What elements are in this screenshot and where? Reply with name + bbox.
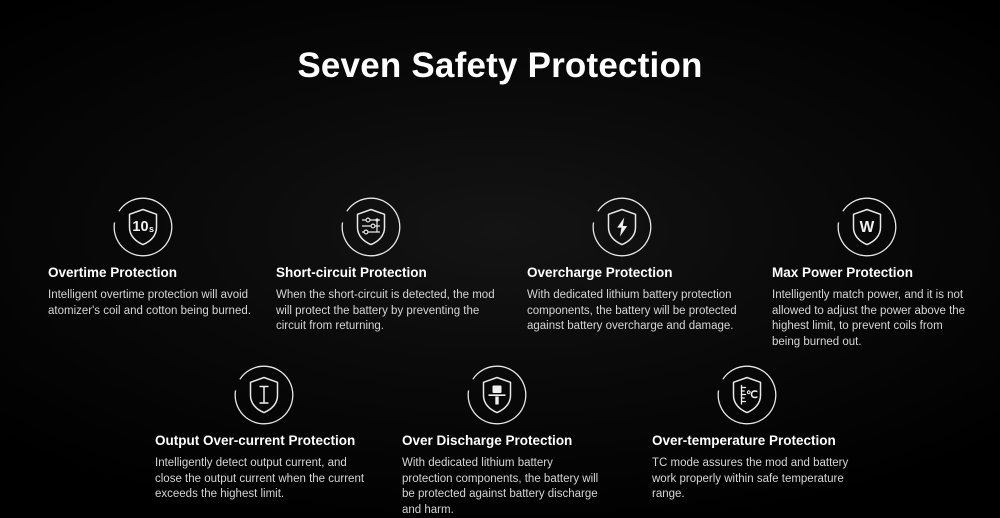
feature-description: TC mode assures the mod and battery work… <box>652 456 867 503</box>
feature-title: Overcharge Protection <box>527 264 737 282</box>
page-title: Seven Safety Protection <box>0 44 1000 88</box>
shield-watt-icon: W <box>836 196 898 258</box>
feature-description: Intelligently match power, and it is not… <box>772 288 972 350</box>
shield-battery-icon <box>466 364 528 426</box>
feature-title: Over-temperature Protection <box>652 432 867 450</box>
shield-lightning-icon <box>591 196 653 258</box>
icon-text-s: s <box>149 224 154 234</box>
feature-description: Intelligent overtime protection will avo… <box>48 288 253 319</box>
feature-description: With dedicated lithium battery protectio… <box>527 288 737 335</box>
icon-text-watt: W <box>860 219 875 236</box>
shield-current-icon <box>233 364 295 426</box>
feature-title: Over Discharge Protection <box>402 432 602 450</box>
shield-timer-10s-icon: 10 s <box>112 196 174 258</box>
icon-text-celsius: ℃ <box>746 389 758 401</box>
feature-title: Output Over-current Protection <box>155 432 370 450</box>
feature-title: Max Power Protection <box>772 264 972 282</box>
feature-description: With dedicated lithium battery protectio… <box>402 456 602 518</box>
shield-circuit-icon <box>340 196 402 258</box>
shield-thermometer-icon: ℃ <box>716 364 778 426</box>
feature-description: When the short-circuit is detected, the … <box>276 288 496 335</box>
safety-protection-panel: Seven Safety Protection 10 s Overtime Pr… <box>0 0 1000 513</box>
feature-description: Intelligently detect output current, and… <box>155 456 370 503</box>
feature-title: Short-circuit Protection <box>276 264 496 282</box>
icon-text-10: 10 <box>132 219 148 235</box>
feature-title: Overtime Protection <box>48 264 253 282</box>
